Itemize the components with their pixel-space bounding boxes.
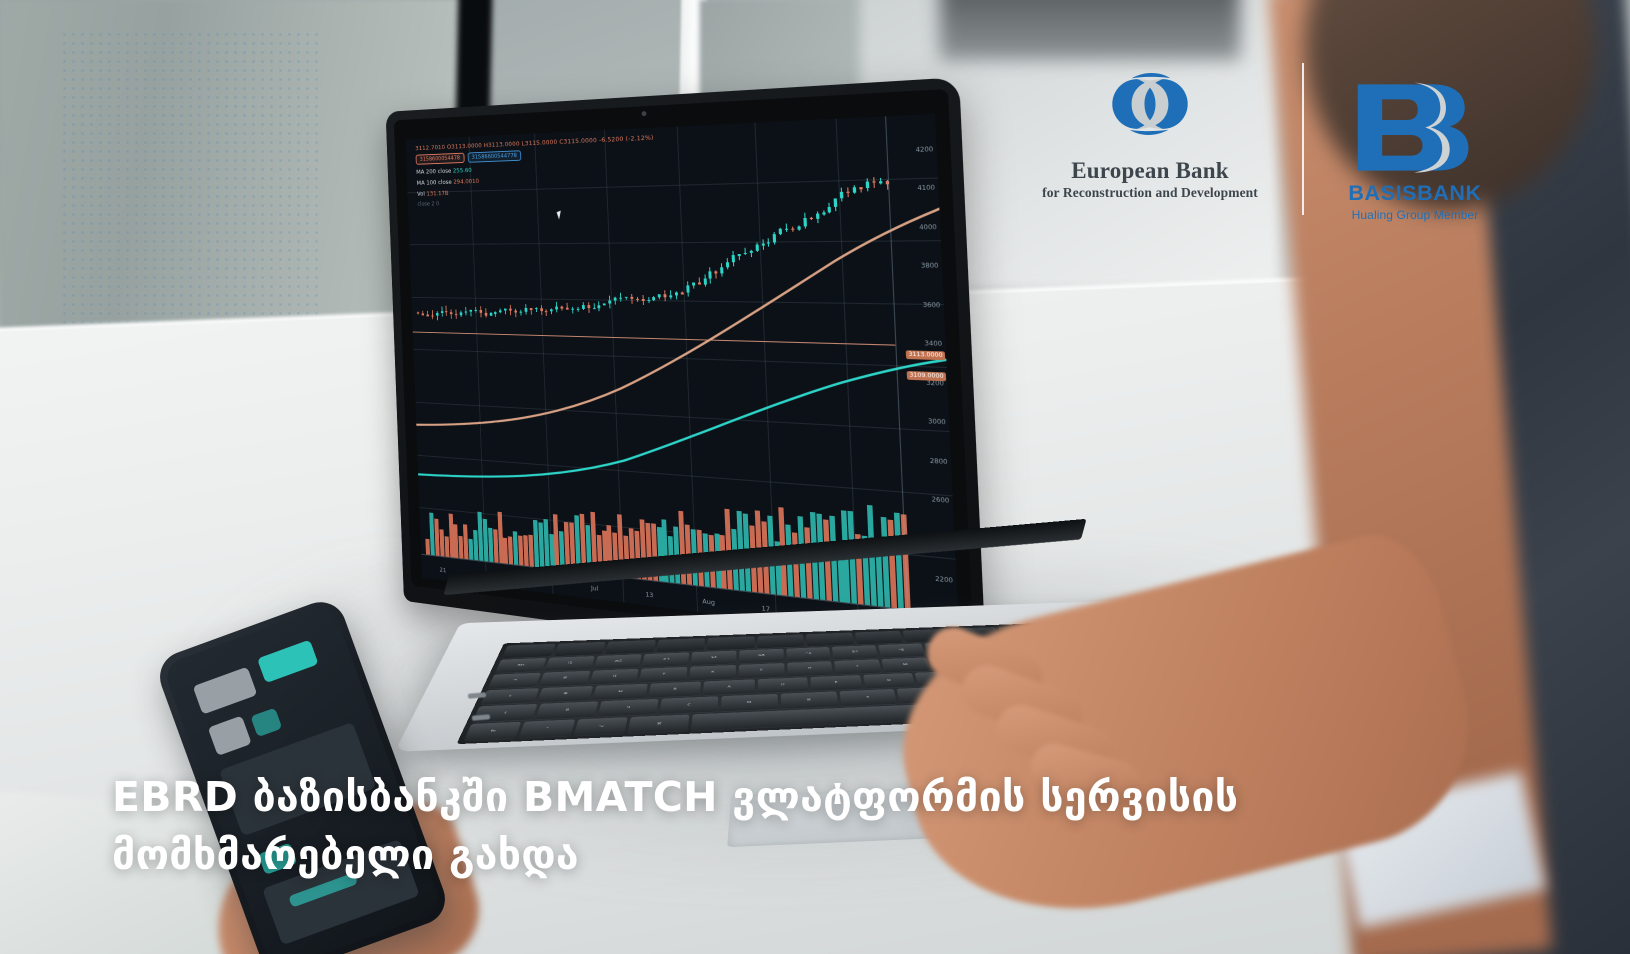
keyboard-key[interactable]: ⌘ xyxy=(628,715,690,734)
ebrd-subtitle: for Reconstruction and Development xyxy=(1030,185,1270,201)
keyboard-key[interactable]: esc xyxy=(495,658,546,673)
legend-vol-value: 131.17B xyxy=(426,189,448,197)
keyboard-key[interactable]: ⌥ xyxy=(573,717,627,735)
legend-ma200-label: MA 200 close xyxy=(416,167,451,176)
candlestick xyxy=(455,310,458,319)
keyboard-key[interactable]: О xyxy=(863,673,916,689)
keyboard-key[interactable]: @2 xyxy=(594,654,642,669)
decor-dot-pattern xyxy=(60,30,320,330)
legend-ma100-label: MA 100 close xyxy=(417,178,452,186)
candlestick xyxy=(509,304,512,315)
candlestick xyxy=(809,217,812,219)
chart-legend: 3112.7010 O3113.0000 H3113.0000 L3115.00… xyxy=(415,134,656,208)
keyboard-key[interactable]: Ц xyxy=(589,669,639,685)
candlestick xyxy=(720,263,724,277)
candlestick xyxy=(450,309,453,318)
candlestick xyxy=(530,308,533,315)
legend-ma200-value: 255.60 xyxy=(453,166,472,174)
candlestick xyxy=(582,302,585,309)
ebrd-logo: European Bank for Reconstruction and Dev… xyxy=(1030,58,1270,201)
candlestick xyxy=(499,308,502,313)
keyboard-key[interactable]: А xyxy=(703,679,754,695)
candlestick xyxy=(417,312,419,314)
candlestick xyxy=(815,211,819,223)
candlestick xyxy=(630,294,633,304)
candlestick xyxy=(652,296,655,301)
candlestick xyxy=(464,307,467,316)
ebrd-mark-icon xyxy=(1104,58,1196,150)
candlestick xyxy=(647,297,650,303)
price-marker-secondary: 3109.0000 xyxy=(907,371,946,381)
candlestick xyxy=(822,210,825,215)
candlestick xyxy=(440,306,443,317)
candlestick xyxy=(773,232,777,245)
candlestick xyxy=(681,292,684,294)
candlestick xyxy=(853,185,857,193)
candlestick xyxy=(479,306,482,317)
keyboard-key[interactable]: М xyxy=(720,694,777,711)
keyboard-key[interactable]: ⇪ xyxy=(480,688,539,705)
keyboard-key[interactable]: %5 xyxy=(739,649,784,663)
candlestick xyxy=(608,296,611,309)
basisbank-bb-icon xyxy=(1354,80,1476,175)
keyboard-key[interactable]: Я xyxy=(535,702,598,720)
candlestick xyxy=(636,297,639,302)
price-axis-tick: 3400 xyxy=(924,340,942,348)
candlestick xyxy=(731,251,735,266)
basisbank-name: BASISBANK xyxy=(1340,181,1490,206)
candlestick xyxy=(785,223,789,232)
keyboard-key[interactable]: Г xyxy=(834,659,881,674)
keyboard-key[interactable]: $4 xyxy=(691,650,737,665)
candlestick xyxy=(514,309,517,317)
candlestick xyxy=(598,301,601,311)
candlestick xyxy=(540,306,543,315)
keyboard-key[interactable]: ^6 xyxy=(786,647,831,661)
price-axis-tick: 3800 xyxy=(921,263,939,271)
candlestick xyxy=(743,248,746,255)
basisbank-logo: BASISBANK Hualing Group Member xyxy=(1340,80,1490,222)
function-key[interactable] xyxy=(554,642,606,656)
chart-badge-2[interactable]: 31586600544778 xyxy=(467,150,521,163)
keyboard-key[interactable]: !1 xyxy=(544,656,594,671)
keyboard-key[interactable]: Е xyxy=(739,663,785,678)
function-key[interactable] xyxy=(855,631,904,645)
candlestick xyxy=(675,292,678,300)
keyboard-key[interactable]: И xyxy=(780,692,838,709)
candlestick xyxy=(878,178,882,184)
keyboard-key[interactable]: Ф xyxy=(537,686,594,703)
candlestick xyxy=(484,308,487,318)
candlestick xyxy=(519,310,522,315)
ceiling-shadow xyxy=(940,0,1240,60)
candlestick xyxy=(663,290,666,301)
keyboard-key[interactable]: Н xyxy=(787,661,834,676)
candlestick xyxy=(797,225,800,231)
candlestick xyxy=(755,242,759,252)
candlestick xyxy=(550,308,553,314)
candlestick xyxy=(603,303,606,305)
candlestick xyxy=(535,307,538,312)
candlestick xyxy=(703,274,707,287)
price-marker: 3113.0000 xyxy=(906,350,945,360)
function-key[interactable] xyxy=(757,634,804,648)
candlestick xyxy=(474,307,477,313)
keyboard-key[interactable]: У xyxy=(639,667,687,682)
time-axis-tick: Aug xyxy=(702,597,715,607)
keyboard-key[interactable]: Й xyxy=(539,671,590,687)
keyboard-key[interactable]: &7 xyxy=(832,645,878,659)
candlestick xyxy=(426,311,429,316)
keyboard-key[interactable]: #3 xyxy=(642,652,689,667)
time-axis-tick: 13 xyxy=(645,590,653,599)
headline-text: EBRD ბაზისბანკში BMATCH ვლატფორმის სერვი… xyxy=(112,768,1512,884)
keyboard-key[interactable]: Ы xyxy=(593,683,648,700)
candlestick xyxy=(445,306,448,316)
price-axis-tick: 2600 xyxy=(931,496,949,505)
candlestick xyxy=(469,310,472,317)
candlestick xyxy=(834,198,838,211)
keyboard-key[interactable]: ⇥ xyxy=(488,673,541,689)
price-axis-tick: 3000 xyxy=(928,418,946,427)
promo-banner: 3112.7010 O3113.0000 H3113.0000 L3115.00… xyxy=(0,0,1630,954)
candlestick xyxy=(587,302,590,312)
function-key[interactable] xyxy=(806,633,854,647)
candlestick xyxy=(658,294,661,299)
candlestick xyxy=(619,293,622,302)
candlestick xyxy=(692,282,695,288)
candlestick xyxy=(460,311,463,317)
candlestick xyxy=(421,311,424,315)
keyboard-key[interactable]: *8 xyxy=(878,643,925,657)
candlestick xyxy=(431,310,434,319)
candlestick xyxy=(846,187,850,197)
candlestick xyxy=(803,213,807,228)
function-key[interactable] xyxy=(656,638,705,652)
candlestick xyxy=(571,307,574,314)
candlestick xyxy=(840,188,844,201)
candlestick xyxy=(625,297,628,300)
ebrd-name: European Bank xyxy=(1030,158,1270,183)
logo-lockup: European Bank for Reconstruction and Dev… xyxy=(1010,58,1480,233)
keyboard-key[interactable]: К xyxy=(689,665,736,680)
basisbank-subtitle: Hualing Group Member xyxy=(1340,208,1490,222)
keyboard-key[interactable]: Р xyxy=(810,675,862,691)
keyboard-key[interactable]: В xyxy=(648,681,701,697)
webcam-icon xyxy=(642,111,647,116)
candlestick xyxy=(865,178,869,192)
candlestick xyxy=(726,258,729,269)
candlestick xyxy=(828,202,832,213)
keyboard-key[interactable]: Ш xyxy=(882,657,930,672)
candlestick xyxy=(436,311,439,320)
candlestick xyxy=(555,302,558,312)
keyboard-key[interactable]: fn xyxy=(464,722,522,741)
legend-vol-label: Vol xyxy=(417,190,425,198)
candlestick xyxy=(738,254,741,260)
price-axis-tick: 4100 xyxy=(917,184,935,192)
candlestick xyxy=(545,309,548,316)
candlestick xyxy=(669,291,672,299)
keyboard-key[interactable]: Ч xyxy=(597,699,658,717)
time-axis-tick: 21 xyxy=(439,566,446,574)
price-axis-tick: 2200 xyxy=(935,575,953,585)
price-axis-tick: 4200 xyxy=(915,146,933,154)
keyboard-key[interactable]: ⌃ xyxy=(519,720,575,739)
price-axis-tick: 3600 xyxy=(923,301,941,309)
price-axis-tick: 4000 xyxy=(919,223,937,231)
candlestick xyxy=(561,305,564,310)
candlestick xyxy=(686,282,690,297)
candlestick xyxy=(779,227,782,234)
time-axis-tick: Jul xyxy=(591,584,598,593)
candlestick xyxy=(859,187,863,192)
candlestick xyxy=(697,277,700,284)
legend-ma100-value: 294.0010 xyxy=(453,177,479,185)
price-axis-tick: 2800 xyxy=(930,457,948,466)
keyboard-key[interactable]: С xyxy=(659,697,718,715)
candlestick xyxy=(767,238,770,247)
candlestick xyxy=(494,311,497,317)
candlestick xyxy=(576,306,579,312)
candlestick xyxy=(614,296,617,305)
candlestick xyxy=(872,177,876,188)
candlestick xyxy=(761,239,765,249)
candlestick xyxy=(504,308,507,314)
candlestick xyxy=(791,227,794,232)
candlestick xyxy=(592,303,595,309)
candlestick xyxy=(715,270,718,278)
function-key[interactable] xyxy=(707,636,754,650)
logo-divider xyxy=(1302,63,1304,215)
candlestick xyxy=(524,304,527,314)
keyboard-key[interactable]: П xyxy=(757,677,808,693)
candlestick xyxy=(709,267,713,283)
chart-badge-1[interactable]: 3158600054478 xyxy=(416,153,465,165)
keyboard-key[interactable]: Т xyxy=(839,689,898,706)
candlestick xyxy=(749,250,752,257)
candlestick xyxy=(641,295,644,304)
function-key[interactable] xyxy=(605,640,655,654)
candlestick xyxy=(489,312,492,316)
function-key[interactable] xyxy=(502,644,556,658)
candlestick xyxy=(566,303,569,310)
